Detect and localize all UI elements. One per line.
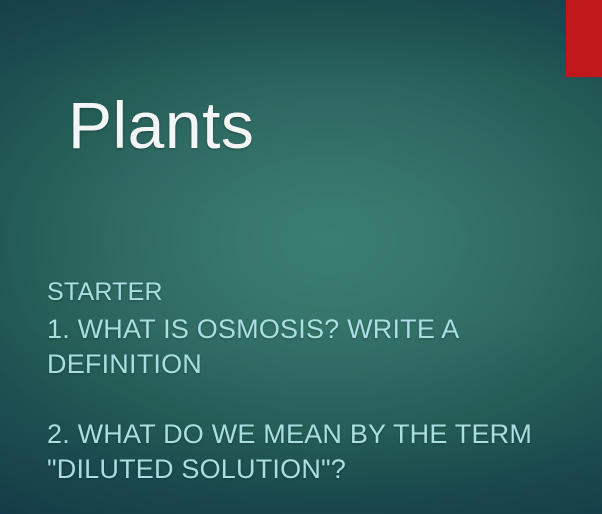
spacer-after-question-2 (47, 487, 577, 514)
starter-label: STARTER (47, 275, 577, 310)
slide-body-content: STARTER 1. WHAT IS OSMOSIS? WRITE A DEFI… (47, 275, 577, 514)
question-1-text: 1. WHAT IS OSMOSIS? WRITE A DEFINITION (47, 312, 577, 382)
spacer-after-question-1 (47, 382, 577, 417)
accent-bar-decoration (566, 0, 602, 77)
presentation-slide: Plants STARTER 1. WHAT IS OSMOSIS? WRITE… (0, 0, 602, 514)
question-2-text: 2. WHAT DO WE MEAN BY THE TERM "DILUTED … (47, 417, 577, 487)
slide-title: Plants (68, 79, 602, 171)
